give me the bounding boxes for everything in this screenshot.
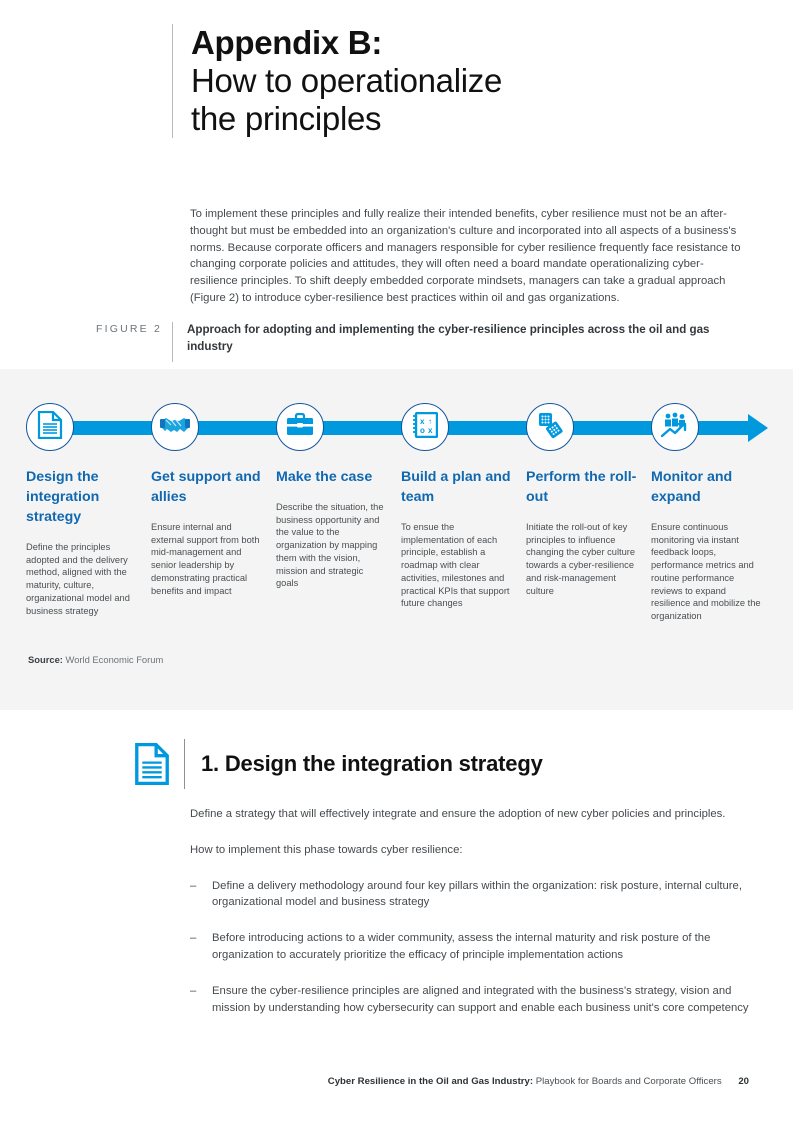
briefcase-icon	[286, 413, 314, 442]
step-4-heading: Build a plan and team	[401, 467, 525, 507]
step-5-heading: Perform the roll-out	[526, 467, 650, 507]
page-title-line-2: How to operationalize	[191, 62, 732, 100]
step-2-description: Ensure internal and external support fro…	[151, 521, 263, 597]
step-3-description: Describe the situation, the business opp…	[276, 501, 388, 590]
bullet-marker: –	[190, 983, 212, 1017]
step-4-icon-circle: x ↑ o x	[401, 403, 449, 451]
svg-text:x: x	[420, 417, 425, 426]
step-1-heading: Design the integration strategy	[26, 467, 150, 527]
section-document-icon	[130, 738, 174, 790]
svg-text:x: x	[428, 426, 433, 435]
svg-text:↑: ↑	[428, 417, 432, 426]
figure-step-1: Design the integration strategy Define t…	[26, 369, 150, 623]
step-6-heading: Monitor and expand	[651, 467, 775, 507]
figure-source: Source: World Economic Forum	[28, 654, 163, 665]
bullet-item-2: – Before introducing actions to a wider …	[190, 930, 752, 964]
figure-label: FIGURE 2	[96, 322, 172, 335]
section-heading: 1. Design the integration strategy	[130, 738, 543, 790]
bullet-item-1: – Define a delivery methodology around f…	[190, 878, 752, 912]
page-title-line-3: the principles	[191, 100, 732, 138]
figure-caption-divider	[172, 322, 173, 362]
playbook-icon: x ↑ o x	[412, 412, 438, 443]
step-6-description: Ensure continuous monitoring via instant…	[651, 521, 763, 623]
intro-paragraph: To implement these principles and fully …	[190, 206, 750, 307]
footer-document-subtitle: Playbook for Boards and Corporate Office…	[536, 1076, 722, 1087]
dice-icon	[536, 411, 564, 444]
figure-step-5: Perform the roll-out Initiate the roll-o…	[526, 369, 650, 623]
step-3-icon-circle	[276, 403, 324, 451]
step-2-heading: Get support and allies	[151, 467, 275, 507]
page-title-block: Appendix B: How to operationalize the pr…	[172, 24, 732, 138]
bullet-item-3-text: Ensure the cyber-resilience principles a…	[212, 983, 752, 1017]
section-heading-divider	[184, 739, 185, 789]
figure-step-2: Get support and allies Ensure internal a…	[151, 369, 275, 623]
step-3-heading: Make the case	[276, 467, 400, 487]
figure-caption: FIGURE 2 Approach for adopting and imple…	[96, 322, 736, 362]
svg-text:o: o	[420, 426, 425, 435]
figure-source-label: Source:	[28, 654, 63, 665]
step-2-icon-circle	[151, 403, 199, 451]
page-title-line-1: Appendix B:	[191, 24, 732, 62]
step-4-description: To ensue the implementation of each prin…	[401, 521, 513, 610]
bullet-item-1-text: Define a delivery methodology around fou…	[212, 878, 752, 912]
step-6-icon-circle	[651, 403, 699, 451]
step-1-description: Define the principles adopted and the de…	[26, 541, 138, 617]
figure-step-3: Make the case Describe the situation, th…	[276, 369, 400, 623]
figure-steps: Design the integration strategy Define t…	[0, 369, 793, 623]
section-title: 1. Design the integration strategy	[201, 751, 543, 777]
page-footer: Cyber Resilience in the Oil and Gas Indu…	[0, 1076, 793, 1087]
footer-page-number: 20	[738, 1076, 749, 1087]
step-5-icon-circle	[526, 403, 574, 451]
section-body: Define a strategy that will effectively …	[190, 806, 752, 1035]
bullet-marker: –	[190, 930, 212, 964]
figure-caption-text: Approach for adopting and implementing t…	[187, 322, 736, 355]
figure-source-value: World Economic Forum	[66, 654, 164, 665]
section-subhead: How to implement this phase towards cybe…	[190, 842, 752, 859]
growth-people-icon	[660, 412, 690, 443]
section-lead-paragraph: Define a strategy that will effectively …	[190, 806, 752, 823]
bullet-marker: –	[190, 878, 212, 912]
handshake-icon	[160, 414, 190, 441]
figure-step-6: Monitor and expand Ensure continuous mon…	[651, 369, 775, 623]
step-5-description: Initiate the roll-out of key principles …	[526, 521, 638, 597]
bullet-item-3: – Ensure the cyber-resilience principles…	[190, 983, 752, 1017]
bullet-item-2-text: Before introducing actions to a wider co…	[212, 930, 752, 964]
document-icon	[37, 411, 63, 444]
footer-document-title: Cyber Resilience in the Oil and Gas Indu…	[328, 1076, 533, 1087]
step-1-icon-circle	[26, 403, 74, 451]
figure-step-4: x ↑ o x Build a plan and team To ensue t…	[401, 369, 525, 623]
